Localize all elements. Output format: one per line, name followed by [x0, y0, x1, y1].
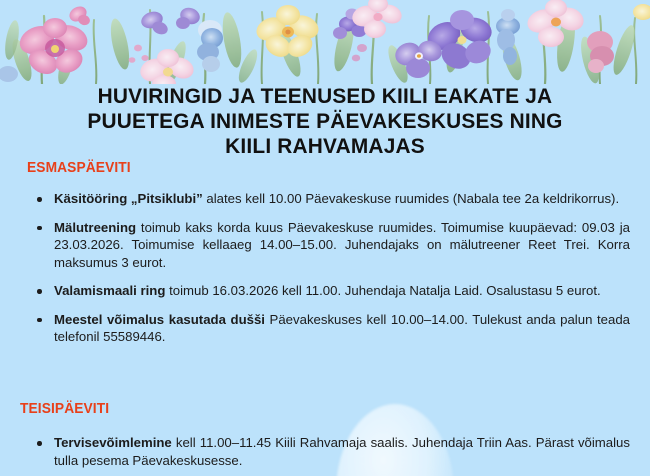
activity-details: toimub kaks korda kuus Päevakeskuse ruum…	[54, 220, 630, 270]
list-item: Käsitööring „Pitsiklubi” alates kell 10.…	[30, 190, 630, 208]
section-heading-tuesday: TEISIPÄEVITI	[20, 401, 109, 417]
activity-details: alates kell 10.00 Päevakeskuse ruumides …	[203, 191, 619, 206]
activity-name: Meestel võimalus kasutada dušši	[54, 312, 265, 327]
activity-name: Tervisevõimlemine	[54, 435, 172, 450]
title-line-2: PUUETEGA INIMESTE PÄEVAKESKUSES NING	[10, 109, 641, 134]
page-title: HUVIRINGID JA TEENUSED KIILI EAKATE JA P…	[0, 84, 650, 159]
activity-name: Valamismaali ring	[54, 283, 165, 298]
list-item: Mälutreening toimub kaks korda kuus Päev…	[30, 219, 630, 272]
title-line-3: KIILI RAHVAMAJAS	[10, 134, 641, 159]
floral-border-banner	[0, 0, 650, 84]
list-item: Valamismaali ring toimub 16.03.2026 kell…	[30, 282, 630, 300]
title-line-1: HUVIRINGID JA TEENUSED KIILI EAKATE JA	[10, 84, 641, 109]
activity-name: Käsitööring „Pitsiklubi”	[54, 191, 203, 206]
poster-canvas: HUVIRINGID JA TEENUSED KIILI EAKATE JA P…	[0, 0, 650, 476]
schedule-list-tuesday: Tervisevõimlemine kell 11.00–11.45 Kiili…	[30, 434, 630, 469]
section-heading-monday: ESMASPÄEVITI	[27, 160, 131, 176]
schedule-list-monday: Käsitööring „Pitsiklubi” alates kell 10.…	[30, 190, 630, 346]
list-item: Meestel võimalus kasutada dušši Päevakes…	[30, 311, 630, 346]
list-item: Tervisevõimlemine kell 11.00–11.45 Kiili…	[30, 434, 630, 469]
activity-details: toimub 16.03.2026 kell 11.00. Juhendaja …	[165, 283, 600, 298]
activity-name: Mälutreening	[54, 220, 136, 235]
